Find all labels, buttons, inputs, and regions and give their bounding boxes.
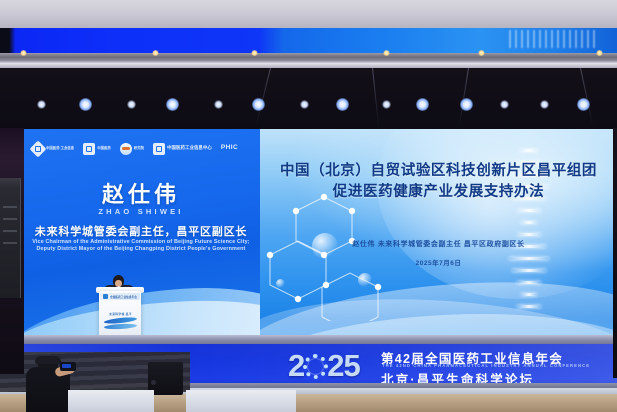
document-title-line2: 促进医药健康产业发展支持办法: [272, 182, 605, 203]
led-wall: 中国医药 工业信息 中国医药 研究院 中国医药工业信息中心 PHIC: [0, 129, 617, 344]
year-logo-suffix: 25: [327, 348, 359, 383]
speaker-title-en-line2: Deputy District Mayor of the Beijing Cha…: [28, 246, 254, 253]
stage-spotlight-icon: [460, 98, 473, 111]
ceiling-truss: [0, 68, 617, 130]
speaker-name-en: ZHAO SHIWEI: [22, 207, 260, 216]
downlight-icon: [20, 50, 27, 56]
monitor-line: [3, 218, 17, 220]
stage-photo: 中国医药 工业信息 中国医药 研究院 中国医药工业信息中心 PHIC: [0, 0, 617, 412]
stage-spotlight-icon: [540, 100, 549, 109]
ceiling-led-highlight: [509, 30, 599, 48]
camera-icon: [60, 362, 76, 371]
stage-spotlight-icon: [127, 100, 136, 109]
round-logo-icon: [120, 143, 132, 155]
square-logo-icon: [83, 143, 95, 155]
organizer-logo-row: 中国医药 工业信息 中国医药 研究院 中国医药工业信息中心 PHIC: [32, 140, 250, 157]
ceiling-led-strip: [0, 28, 617, 54]
stage-spotlight-icon: [252, 98, 265, 111]
phic-logo-label: PHIC: [221, 146, 238, 150]
panel-glow: [377, 129, 617, 299]
molecule-ring-icon: [303, 354, 328, 379]
stage-spotlight-icon: [500, 100, 509, 109]
speaker-title-en: Vice Chairman of the Administrative Comm…: [28, 239, 254, 253]
banner-line1-en: THE 42ND CHINA PHARMACEUTICAL INDUSTRY A…: [382, 363, 590, 368]
downlight-icon: [152, 50, 159, 56]
wave-stroke: [104, 323, 137, 330]
led-wall-right-panel: 中国（北京）自贸试验区科技创新片区昌平组团 促进医药健康产业发展支持办法 赵仕伟…: [260, 129, 617, 335]
speaker-title-en-line1: Vice Chairman of the Administrative Comm…: [28, 239, 254, 246]
stage-spotlight-icon: [214, 100, 223, 109]
stage-spotlight-icon: [382, 100, 391, 109]
monitor-line: [3, 242, 17, 244]
downlight-icon: [383, 50, 390, 56]
document-title-line1: 中国（北京）自贸试验区科技创新片区昌平组团: [272, 161, 605, 182]
downlight-icon: [251, 50, 258, 56]
podium-wordmark: 未来科学城 昌平: [104, 312, 137, 316]
stage-monitor: [0, 178, 21, 298]
stage-spotlight-icon: [577, 98, 590, 111]
podium-band-mark-icon: [103, 294, 108, 299]
ceiling: [0, 0, 617, 28]
document-byline: 赵仕伟 未来科学城管委会副主任 昌平区政府副区长: [272, 239, 605, 249]
stage-spotlight-icon: [166, 98, 179, 111]
stage-spotlight-icon: [336, 98, 349, 111]
bokeh-bubble: [358, 273, 372, 287]
foreground-paper: [186, 390, 296, 412]
organizer-logo-4-label: 中国医药工业信息中心: [167, 146, 212, 150]
organizer-logo-2: 中国医药: [83, 143, 111, 155]
speaker-name-cn: 赵仕伟: [22, 177, 260, 209]
podium-band-label: 全国医药工业信息年会: [110, 295, 137, 299]
downlight-icon: [596, 50, 603, 56]
foreground-right-drape: [613, 128, 617, 378]
stage-spotlight-icon: [300, 100, 309, 109]
stage-spotlight-icon: [79, 98, 92, 111]
podium-band: 全国医药工业信息年会: [100, 293, 140, 300]
speaker-title-cn: 未来科学城管委会副主任，昌平区副区长: [22, 223, 260, 239]
organizer-logo-1-label: 中国医药 工业信息: [46, 146, 74, 150]
year-logo: 225: [288, 348, 360, 384]
foreground-paper: [68, 390, 154, 412]
organizer-logo-1: 中国医药 工业信息: [32, 143, 74, 155]
diamond-logo-icon: [30, 140, 47, 157]
monitor-line: [3, 230, 17, 232]
bokeh-bubble: [276, 279, 285, 288]
organizer-logo-5: PHIC: [221, 146, 238, 150]
year-logo-prefix: 2: [288, 348, 304, 383]
light-beam: [372, 68, 379, 128]
podium-wave-logo-icon: [104, 318, 137, 334]
organizer-logo-4: 中国医药工业信息中心: [153, 143, 212, 155]
downlight-icon: [478, 50, 485, 56]
document-title: 中国（北京）自贸试验区科技创新片区昌平组团 促进医药健康产业发展支持办法: [272, 161, 605, 203]
stage-spotlight-icon: [37, 100, 46, 109]
stage-spotlight-icon: [416, 98, 429, 111]
led-wall-left-panel: 中国医药 工业信息 中国医药 研究院 中国医药工业信息中心 PHIC: [22, 129, 260, 335]
organizer-logo-3: 研究院: [120, 143, 144, 155]
organizer-logo-2-label: 中国医药: [97, 146, 111, 150]
ceiling-rail: [0, 53, 617, 63]
organizer-logo-3-label: 研究院: [134, 146, 144, 150]
photographer-cap: [35, 356, 61, 364]
document-date: 2025年7月6日: [272, 257, 605, 267]
cmei-logo-icon: [153, 143, 165, 155]
monitor-line: [3, 206, 17, 208]
